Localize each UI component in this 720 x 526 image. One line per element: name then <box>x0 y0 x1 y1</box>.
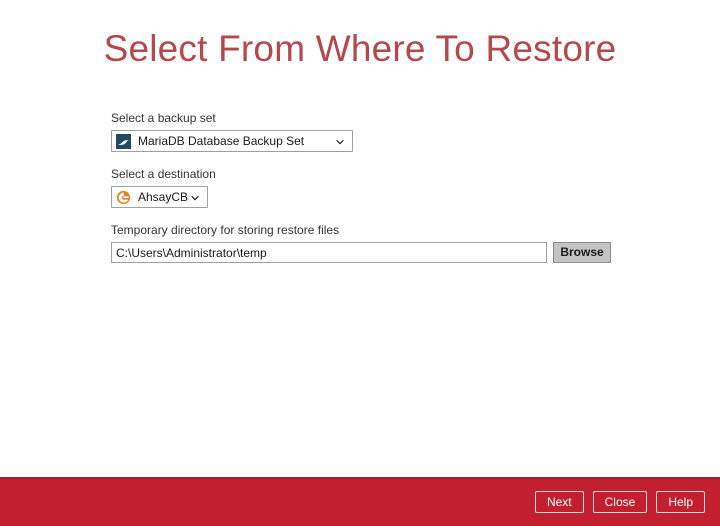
help-button[interactable]: Help <box>656 491 705 513</box>
temp-directory-input[interactable] <box>111 242 547 263</box>
destination-value: AhsayCBS <box>138 190 189 204</box>
close-button[interactable]: Close <box>593 491 648 513</box>
restore-source-form: Select a backup set MariaDB Database Bac… <box>111 111 611 263</box>
footer-bar: Next Close Help <box>0 477 720 526</box>
chevron-down-icon[interactable] <box>334 135 346 147</box>
footer-button-group: Next Close Help <box>535 491 705 513</box>
mariadb-icon <box>116 134 131 149</box>
page-title: Select From Where To Restore <box>0 28 720 70</box>
chevron-down-icon[interactable] <box>189 191 201 203</box>
temp-directory-row: Browse <box>111 242 611 263</box>
temp-directory-label: Temporary directory for storing restore … <box>111 223 611 237</box>
backup-set-label: Select a backup set <box>111 111 611 125</box>
next-button[interactable]: Next <box>535 491 584 513</box>
browse-button[interactable]: Browse <box>553 242 611 263</box>
destination-select[interactable]: AhsayCBS <box>111 186 208 208</box>
backup-set-select[interactable]: MariaDB Database Backup Set <box>111 130 353 152</box>
destination-label: Select a destination <box>111 167 611 181</box>
field-group-backup-set: Select a backup set MariaDB Database Bac… <box>111 111 611 152</box>
backup-set-value: MariaDB Database Backup Set <box>138 134 334 148</box>
ahsaycbs-icon <box>116 190 131 205</box>
field-group-destination: Select a destination AhsayCBS <box>111 167 611 208</box>
field-group-temp-directory: Temporary directory for storing restore … <box>111 223 611 263</box>
